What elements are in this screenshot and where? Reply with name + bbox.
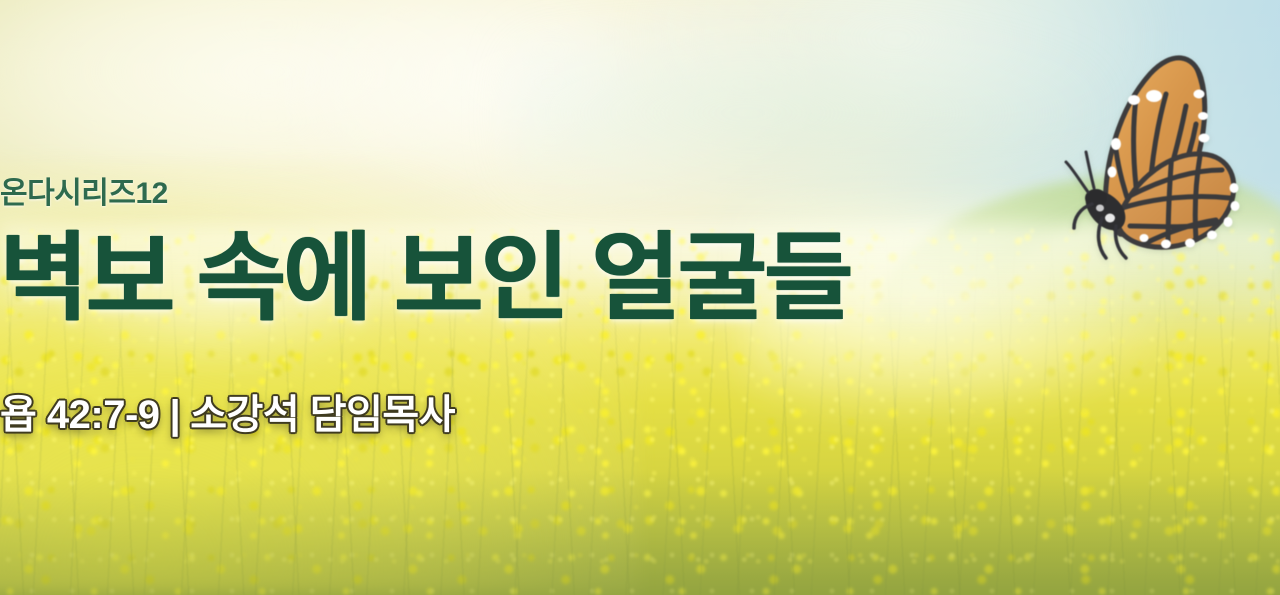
speaker-name: 소강석 담임목사 [190, 393, 455, 437]
series-label: 온다시리즈12 [0, 168, 1280, 212]
sermon-title-slide: 온다시리즈12 벽보 속에 보인 얼굴들 욥 42:7-9|소강석 담임목사 [0, 0, 1280, 595]
page-title: 벽보 속에 보인 얼굴들 [0, 228, 1280, 330]
scripture-reference: 욥 42:7-9 [0, 393, 160, 437]
subtitle-separator: | [160, 393, 191, 437]
subtitle-line: 욥 42:7-9|소강석 담임목사 [0, 382, 1280, 440]
field-bottom-shade [0, 470, 1280, 595]
